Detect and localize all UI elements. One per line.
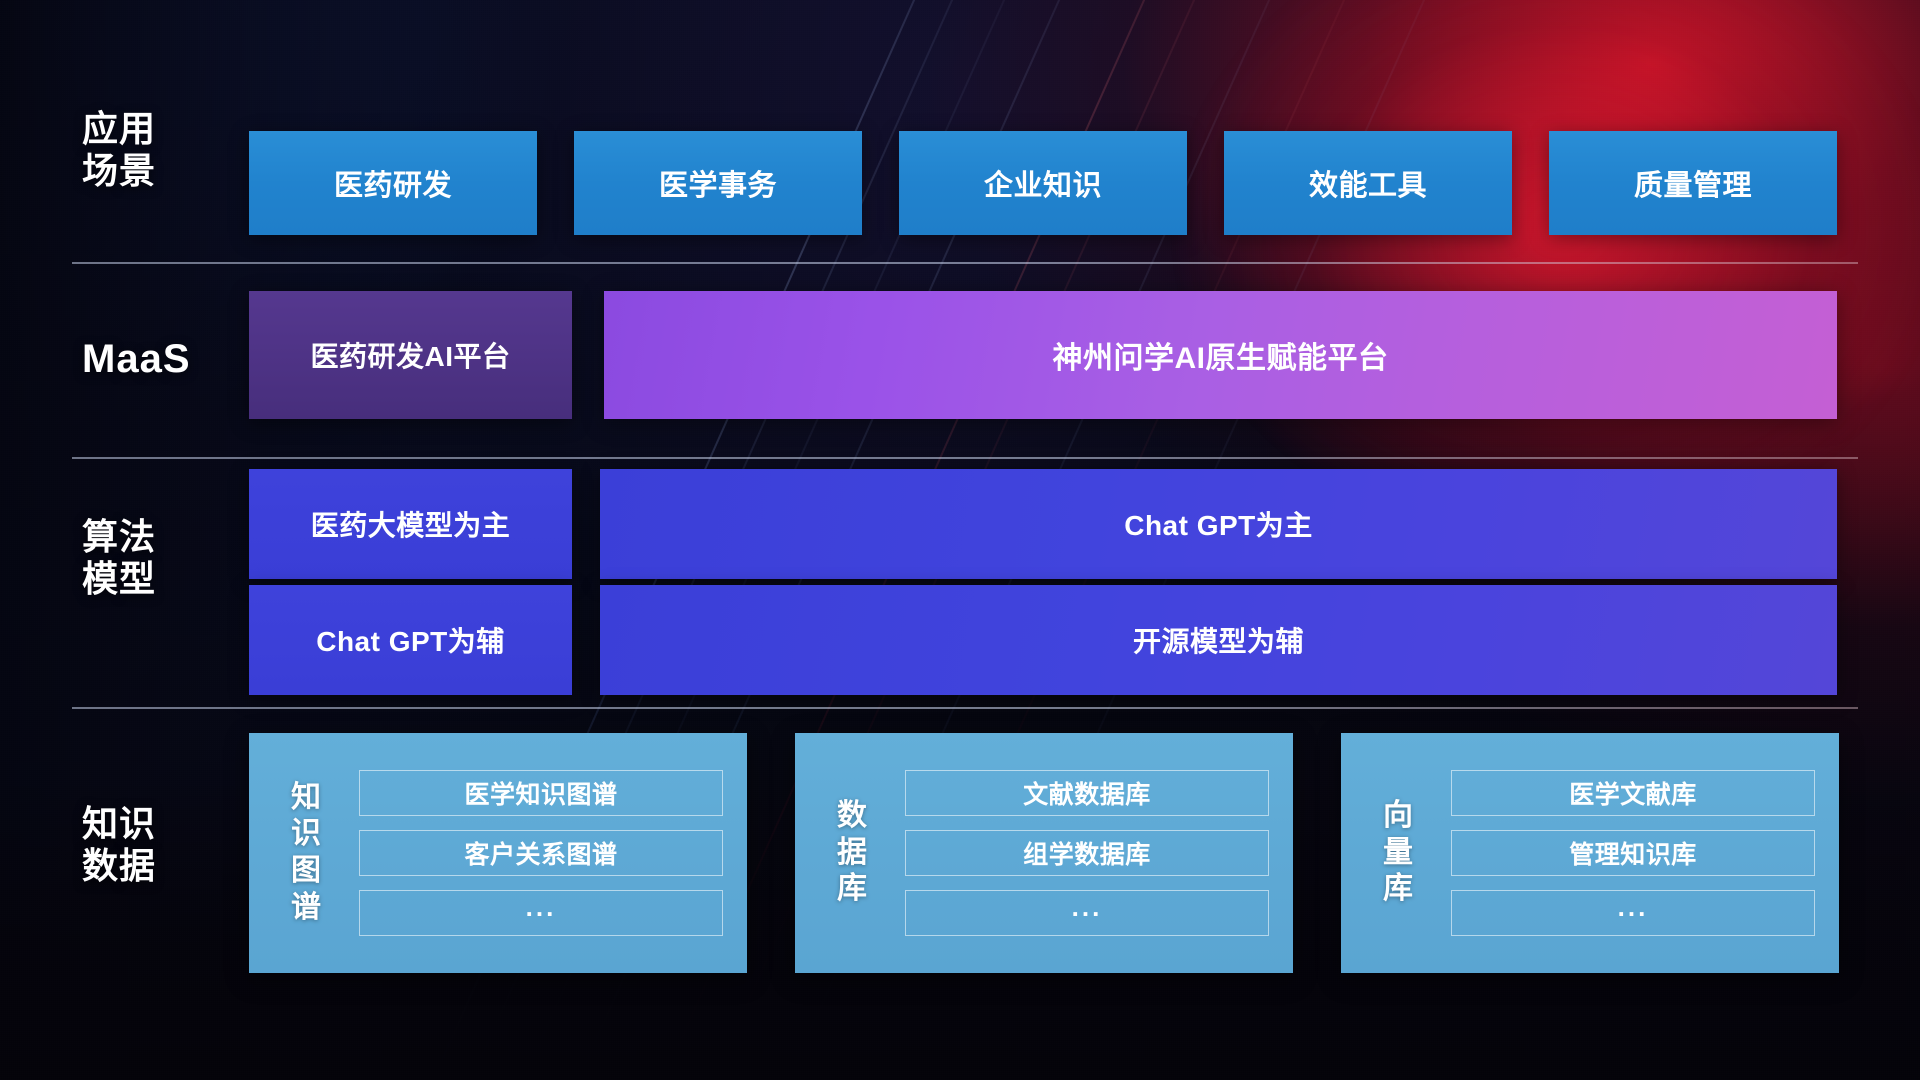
scenario-card-5[interactable]: 质量管理 — [1549, 131, 1837, 235]
algorithm-primary-left[interactable]: 医药大模型为主 — [249, 469, 572, 579]
knowledge-panel-1-title: 知 识 图 谱 — [275, 780, 337, 926]
slide-canvas: 应用 场景 医药研发 医学事务 企业知识 效能工具 质量管理 MaaS 医药研发… — [0, 0, 1920, 1080]
divider-2 — [72, 457, 1858, 459]
knowledge-item-3-2-label: 管理知识库 — [1569, 835, 1697, 871]
knowledge-item-2-1-label: 文献数据库 — [1023, 775, 1151, 811]
algorithm-primary-right[interactable]: Chat GPT为主 — [600, 469, 1837, 579]
knowledge-item-3-3[interactable]: ... — [1451, 890, 1815, 936]
scenario-card-2-label: 医学事务 — [659, 162, 777, 204]
scenario-card-4[interactable]: 效能工具 — [1224, 131, 1512, 235]
knowledge-item-1-2-label: 客户关系图谱 — [464, 835, 617, 871]
row-label-algorithm-model: 算法 模型 — [82, 516, 232, 601]
row-label-knowledge-data: 知识 数据 — [82, 803, 232, 888]
knowledge-item-2-3[interactable]: ... — [905, 890, 1269, 936]
knowledge-item-1-3[interactable]: ... — [359, 890, 723, 936]
maas-platform-right-label: 神州问学AI原生赋能平台 — [1053, 333, 1389, 377]
algorithm-secondary-right[interactable]: 开源模型为辅 — [600, 585, 1837, 695]
knowledge-panel-2-title: 数 据 库 — [821, 798, 883, 908]
divider-1 — [72, 262, 1858, 264]
scenario-card-3[interactable]: 企业知识 — [899, 131, 1187, 235]
scenario-card-3-label: 企业知识 — [984, 162, 1102, 204]
row-label-maas: MaaS — [82, 336, 232, 383]
maas-platform-left[interactable]: 医药研发AI平台 — [249, 291, 572, 419]
maas-platform-right[interactable]: 神州问学AI原生赋能平台 — [604, 291, 1837, 419]
knowledge-panel-3-items: 医学文献库 管理知识库 ... — [1451, 770, 1815, 936]
knowledge-item-3-1-label: 医学文献库 — [1569, 775, 1697, 811]
scenario-card-1[interactable]: 医药研发 — [249, 131, 537, 235]
scenario-card-2[interactable]: 医学事务 — [574, 131, 862, 235]
algorithm-secondary-left-label: Chat GPT为辅 — [316, 620, 505, 660]
divider-3 — [72, 707, 1858, 709]
algorithm-primary-right-label: Chat GPT为主 — [1124, 504, 1313, 544]
row-label-application-scenarios: 应用 场景 — [82, 108, 232, 193]
knowledge-panel-vector-store[interactable]: 向 量 库 医学文献库 管理知识库 ... — [1341, 733, 1839, 973]
algorithm-secondary-left[interactable]: Chat GPT为辅 — [249, 585, 572, 695]
knowledge-item-3-3-label: ... — [1618, 892, 1649, 923]
knowledge-panel-database[interactable]: 数 据 库 文献数据库 组学数据库 ... — [795, 733, 1293, 973]
knowledge-item-3-2[interactable]: 管理知识库 — [1451, 830, 1815, 876]
knowledge-panel-1-items: 医学知识图谱 客户关系图谱 ... — [359, 770, 723, 936]
knowledge-item-2-2-label: 组学数据库 — [1023, 835, 1151, 871]
knowledge-item-2-1[interactable]: 文献数据库 — [905, 770, 1269, 816]
knowledge-panel-knowledge-graph[interactable]: 知 识 图 谱 医学知识图谱 客户关系图谱 ... — [249, 733, 747, 973]
scenario-card-1-label: 医药研发 — [334, 162, 452, 204]
knowledge-item-1-1-label: 医学知识图谱 — [464, 775, 617, 811]
knowledge-item-1-3-label: ... — [526, 892, 557, 923]
algorithm-primary-left-label: 医药大模型为主 — [311, 504, 511, 544]
maas-platform-left-label: 医药研发AI平台 — [310, 335, 510, 375]
scenario-card-4-label: 效能工具 — [1309, 162, 1427, 204]
knowledge-panel-2-items: 文献数据库 组学数据库 ... — [905, 770, 1269, 936]
knowledge-item-1-1[interactable]: 医学知识图谱 — [359, 770, 723, 816]
algorithm-secondary-right-label: 开源模型为辅 — [1133, 620, 1304, 660]
knowledge-item-2-3-label: ... — [1072, 892, 1103, 923]
scenario-card-5-label: 质量管理 — [1634, 162, 1752, 204]
architecture-diagram: 应用 场景 医药研发 医学事务 企业知识 效能工具 质量管理 MaaS 医药研发… — [0, 0, 1920, 1080]
knowledge-item-1-2[interactable]: 客户关系图谱 — [359, 830, 723, 876]
knowledge-panel-3-title: 向 量 库 — [1367, 798, 1429, 908]
knowledge-item-2-2[interactable]: 组学数据库 — [905, 830, 1269, 876]
knowledge-item-3-1[interactable]: 医学文献库 — [1451, 770, 1815, 816]
